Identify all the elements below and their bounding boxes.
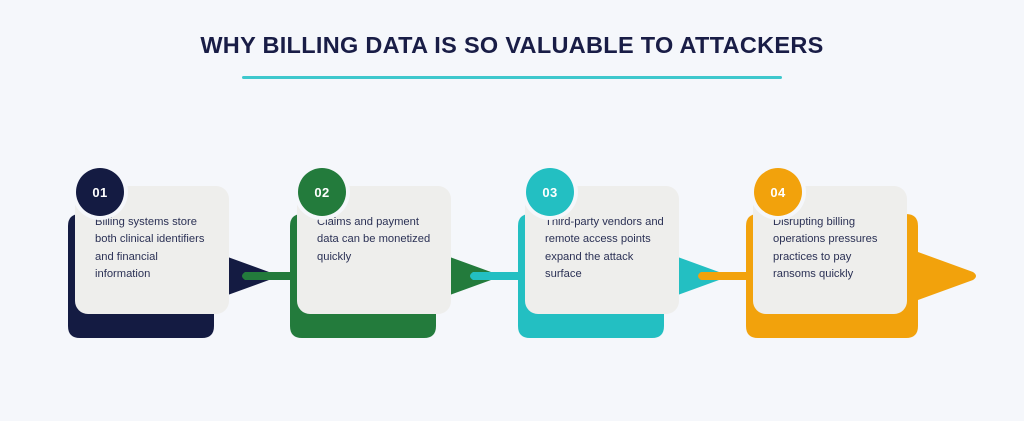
step-badge-label-1: 01 <box>92 185 107 200</box>
step-card-text-3: Third-party vendors and remote access po… <box>545 214 665 283</box>
step-badge-1: 01 <box>76 168 124 216</box>
step-badge-3: 03 <box>526 168 574 216</box>
step-card-text-2: Claims and payment data can be monetized… <box>317 214 437 266</box>
step-badge-label-2: 02 <box>314 185 329 200</box>
step-badge-label-4: 04 <box>770 185 785 200</box>
process-step-4: Disrupting billing operations pressures … <box>746 0 1024 421</box>
step-badge-2: 02 <box>298 168 346 216</box>
step-badge-4: 04 <box>754 168 802 216</box>
step-card-text-4: Disrupting billing operations pressures … <box>773 214 893 283</box>
infographic-canvas: WHY BILLING DATA IS SO VALUABLE TO ATTAC… <box>0 0 1024 421</box>
step-badge-label-3: 03 <box>542 185 557 200</box>
process-steps-container: Billing systems store both clinical iden… <box>0 0 1024 421</box>
step-card-text-1: Billing systems store both clinical iden… <box>95 214 215 283</box>
